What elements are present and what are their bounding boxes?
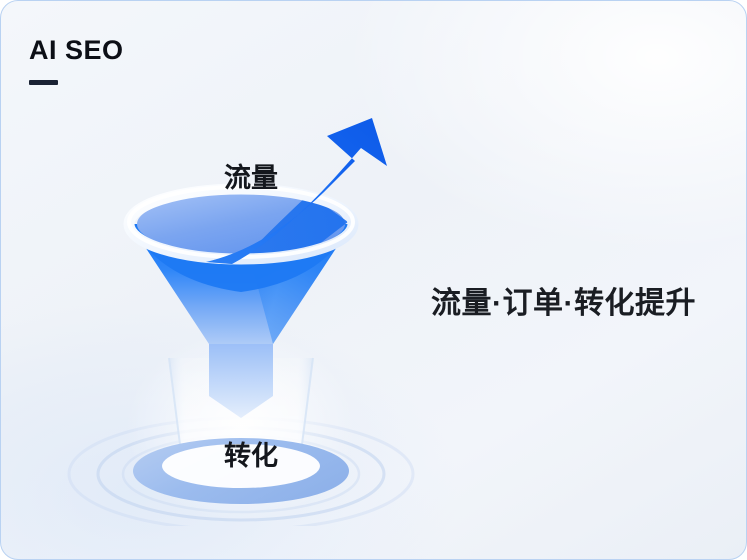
page-title: AI SEO [29,37,124,64]
headline-text: 流量·订单·转化提升 [431,278,696,322]
page-title-block: AI SEO [29,37,124,85]
title-underline-rule [29,80,58,85]
illustration-card: AI SEO [0,0,747,560]
label-conversion: 转化 [224,434,278,473]
label-traffic: 流量 [224,156,278,195]
